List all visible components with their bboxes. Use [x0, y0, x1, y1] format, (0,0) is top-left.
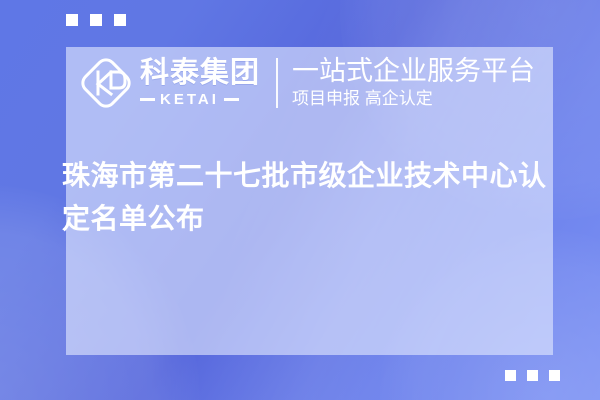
slogan-primary: 一站式企业服务平台	[292, 57, 535, 85]
brand-name-cn: 科泰集团	[140, 59, 260, 88]
decorative-square-icon	[505, 370, 516, 381]
header-divider	[276, 58, 278, 108]
brand-wordmark: 科泰集团 KETAI	[140, 59, 260, 107]
decorative-dots-bottom-right	[505, 370, 560, 381]
ketai-kp-diamond-logo-icon	[78, 55, 134, 111]
decorative-square-icon	[66, 14, 78, 26]
slogan-block: 一站式企业服务平台 项目申报 高企认定	[292, 57, 535, 108]
promo-banner: 科泰集团 KETAI 一站式企业服务平台 项目申报 高企认定 珠海市第二十七批市…	[0, 0, 600, 400]
decorative-dots-top-left	[66, 14, 126, 26]
wordmark-rule-left	[140, 98, 155, 101]
headline-title: 珠海市第二十七批市级企业技术中心认定名单公布	[62, 155, 550, 240]
decorative-square-icon	[90, 14, 102, 26]
decorative-square-icon	[114, 14, 126, 26]
wordmark-rule-right	[224, 98, 239, 101]
decorative-square-icon	[527, 370, 538, 381]
brand-name-en: KETAI	[160, 92, 219, 107]
brand-header: 科泰集团 KETAI 一站式企业服务平台 项目申报 高企认定	[66, 47, 553, 119]
slogan-secondary: 项目申报 高企认定	[292, 90, 535, 109]
brand-name-en-row: KETAI	[140, 92, 260, 107]
decorative-square-icon	[549, 370, 560, 381]
